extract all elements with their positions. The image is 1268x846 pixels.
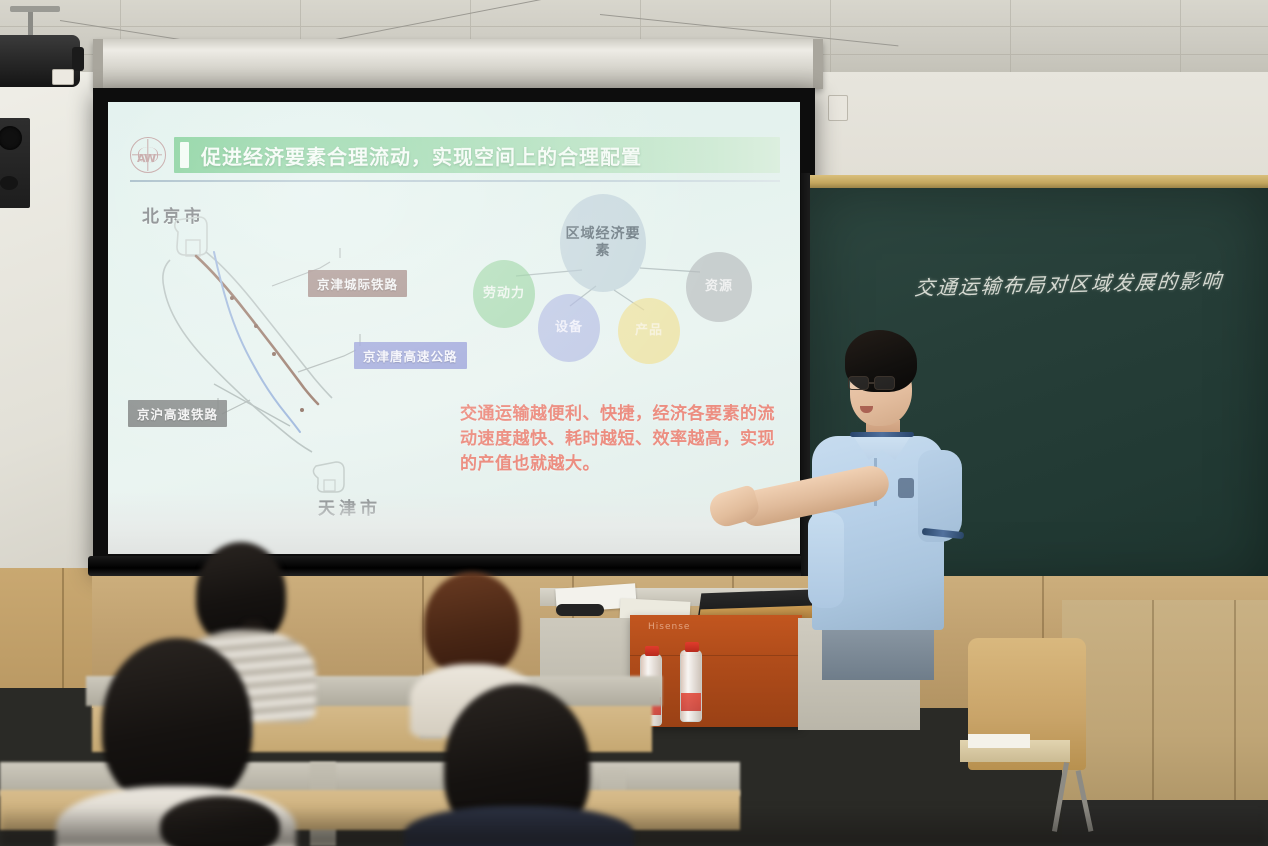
wall-outlet[interactable] — [52, 69, 74, 85]
side-desk-paper — [968, 734, 1030, 748]
audience-head-3 — [102, 638, 252, 808]
audience-head-2 — [424, 572, 520, 676]
slide-title-band: 促进经济要素合理流动，实现空间上的合理配置 — [174, 137, 780, 173]
presenter-shirt-logo — [898, 478, 914, 498]
map-diagram: 北京市 天津市 — [122, 194, 452, 534]
bubble-center-regional-economic-factors: 区域经济要素 — [560, 194, 646, 292]
title-accent-bar — [180, 142, 189, 168]
classroom-scene: AW 促进经济要素合理流动，实现空间上的合理配置 北京市 天津市 — [0, 0, 1268, 846]
chalkboard-handwriting: 交通运输布局对区域发展的影响 — [913, 264, 1246, 301]
presenter — [660, 330, 990, 660]
map-label-intercity-railway: 京津城际铁路 — [308, 270, 407, 297]
water-bottle-2[interactable] — [680, 650, 702, 722]
foreground-vignette — [0, 806, 1268, 846]
slide-title: 促进经济要素合理流动，实现空间上的合理配置 — [201, 141, 642, 170]
wall-outlet-right[interactable] — [828, 95, 848, 121]
roller-cap-left — [93, 39, 103, 89]
chalkboard-top-rail — [810, 175, 1268, 188]
presenter-collar-stripe — [850, 432, 914, 437]
projector-ceiling-plate — [10, 6, 60, 12]
title-underline-rule — [130, 180, 780, 182]
presenter-right-arm — [808, 512, 844, 608]
slide-title-row: AW 促进经济要素合理流动，实现空间上的合理配置 — [130, 134, 780, 176]
bubble-equipment: 设备 — [538, 294, 600, 362]
school-crest-emblem-icon: AW — [130, 137, 166, 173]
microphone[interactable] — [556, 604, 604, 616]
projector-mount-rod — [28, 10, 33, 38]
map-label-jinghu-railway: 京沪高速铁路 — [128, 400, 227, 427]
roller-cap-right — [813, 39, 823, 89]
bubble-labor: 劳动力 — [473, 260, 535, 328]
wall-speaker — [0, 118, 30, 208]
bubble-resource: 资源 — [686, 252, 752, 322]
emblem-initials: AW — [137, 152, 155, 165]
glasses-icon — [848, 376, 904, 391]
projection-screen-roller-housing — [93, 39, 823, 89]
map-label-expressway: 京津唐高速公路 — [354, 342, 467, 369]
